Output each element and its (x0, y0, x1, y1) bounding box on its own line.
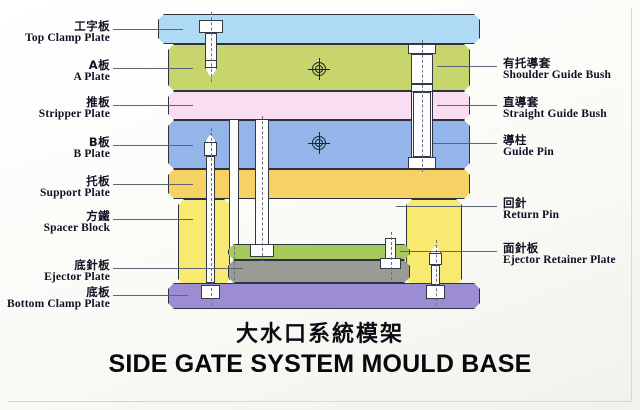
label-top-clamp-plate-en: Top Clamp Plate (0, 33, 110, 45)
label-return-pin-en: Return Pin (503, 210, 640, 222)
spacer-block (178, 199, 230, 285)
title-chinese: 大水口系統模架 (0, 316, 640, 348)
cap-screw-centerline (211, 12, 212, 82)
leader-line-top-clamp-plate (113, 29, 183, 30)
label-straight-guide-bush-en: Straight Guide Bush (503, 109, 640, 121)
label-top-clamp-plate: 工字板 Top Clamp Plate (0, 21, 110, 44)
label-stripper-plate-cn: 推板 (0, 97, 110, 109)
return-pin-right-centerline (391, 232, 392, 280)
leader-line-stripper-plate (113, 105, 193, 106)
guide-pin-centerline (422, 40, 423, 172)
label-b-plate-cn: B板 (0, 137, 110, 149)
label-straight-guide-bush-cn: 直導套 (503, 97, 640, 109)
label-a-plate-cn: A板 (0, 60, 110, 72)
label-ejector-retainer-plate-cn: 面針板 (503, 243, 640, 255)
label-spacer-block-en: Spacer Block (0, 223, 110, 235)
label-shoulder-guide-bush: 有托導套 Shoulder Guide Bush (503, 58, 640, 81)
label-spacer-block-cn: 方鐵 (0, 211, 110, 223)
label-return-pin-cn: 回針 (503, 198, 640, 210)
label-ejector-plate-en: Ejector Plate (0, 272, 110, 284)
label-ejector-retainer-plate: 面針板 Ejector Retainer Plate (503, 243, 640, 266)
label-b-plate: B板 B Plate (0, 137, 110, 160)
label-spacer-block: 方鐵 Spacer Block (0, 211, 110, 234)
label-guide-pin: 導柱 Guide Pin (503, 135, 640, 158)
ejector-sleeve-centerline (262, 116, 263, 261)
label-return-pin: 回針 Return Pin (503, 198, 640, 221)
label-shoulder-guide-bush-cn: 有托導套 (503, 58, 640, 70)
return-pin-centerline (211, 128, 212, 306)
leader-line-guide-pin (433, 143, 497, 144)
leader-line-b-plate (113, 145, 193, 146)
frame-line-bottom (8, 401, 632, 402)
leader-line-straight-guide-bush (437, 105, 497, 106)
label-support-plate-en: Support Plate (0, 188, 110, 200)
datum-crosshair-icon-a (308, 58, 330, 80)
label-stripper-plate-en: Stripper Plate (0, 109, 110, 121)
label-stripper-plate: 推板 Stripper Plate (0, 97, 110, 120)
bottom-screw-centerline (436, 240, 437, 306)
leader-line-ejector-retainer-plate (400, 251, 497, 252)
label-a-plate: A板 A Plate (0, 60, 110, 83)
label-support-plate: 托板 Support Plate (0, 176, 110, 199)
label-guide-pin-en: Guide Pin (503, 147, 640, 159)
label-support-plate-cn: 托板 (0, 176, 110, 188)
leader-line-support-plate (113, 184, 193, 185)
label-straight-guide-bush: 直導套 Straight Guide Bush (503, 97, 640, 120)
leader-line-shoulder-guide-bush (437, 66, 497, 67)
leader-line-return-pin (396, 206, 497, 207)
label-ejector-plate-cn: 底針板 (0, 260, 110, 272)
label-top-clamp-plate-cn: 工字板 (0, 21, 110, 33)
label-bottom-clamp-plate-cn: 底板 (0, 287, 110, 299)
title-english: SIDE GATE SYSTEM MOULD BASE (0, 350, 640, 379)
label-bottom-clamp-plate: 底板 Bottom Clamp Plate (0, 287, 110, 310)
datum-crosshair-icon-b (308, 132, 330, 154)
label-b-plate-en: B Plate (0, 149, 110, 161)
ejector-pin-channel (229, 120, 239, 244)
label-a-plate-en: A Plate (0, 72, 110, 84)
label-ejector-plate: 底針板 Ejector Plate (0, 260, 110, 283)
leader-line-a-plate (113, 68, 193, 69)
label-shoulder-guide-bush-en: Shoulder Guide Bush (503, 70, 640, 82)
title-block: 大水口系統模架 SIDE GATE SYSTEM MOULD BASE (0, 316, 640, 379)
leader-line-ejector-plate (113, 268, 243, 269)
label-ejector-retainer-plate-en: Ejector Retainer Plate (503, 255, 640, 267)
diagram-page: 工字板 Top Clamp Plate A板 A Plate 推板 Stripp… (0, 0, 640, 410)
label-guide-pin-cn: 導柱 (503, 135, 640, 147)
leader-line-bottom-clamp-plate (113, 295, 188, 296)
leader-line-spacer-block (113, 219, 193, 220)
label-bottom-clamp-plate-en: Bottom Clamp Plate (0, 299, 110, 311)
